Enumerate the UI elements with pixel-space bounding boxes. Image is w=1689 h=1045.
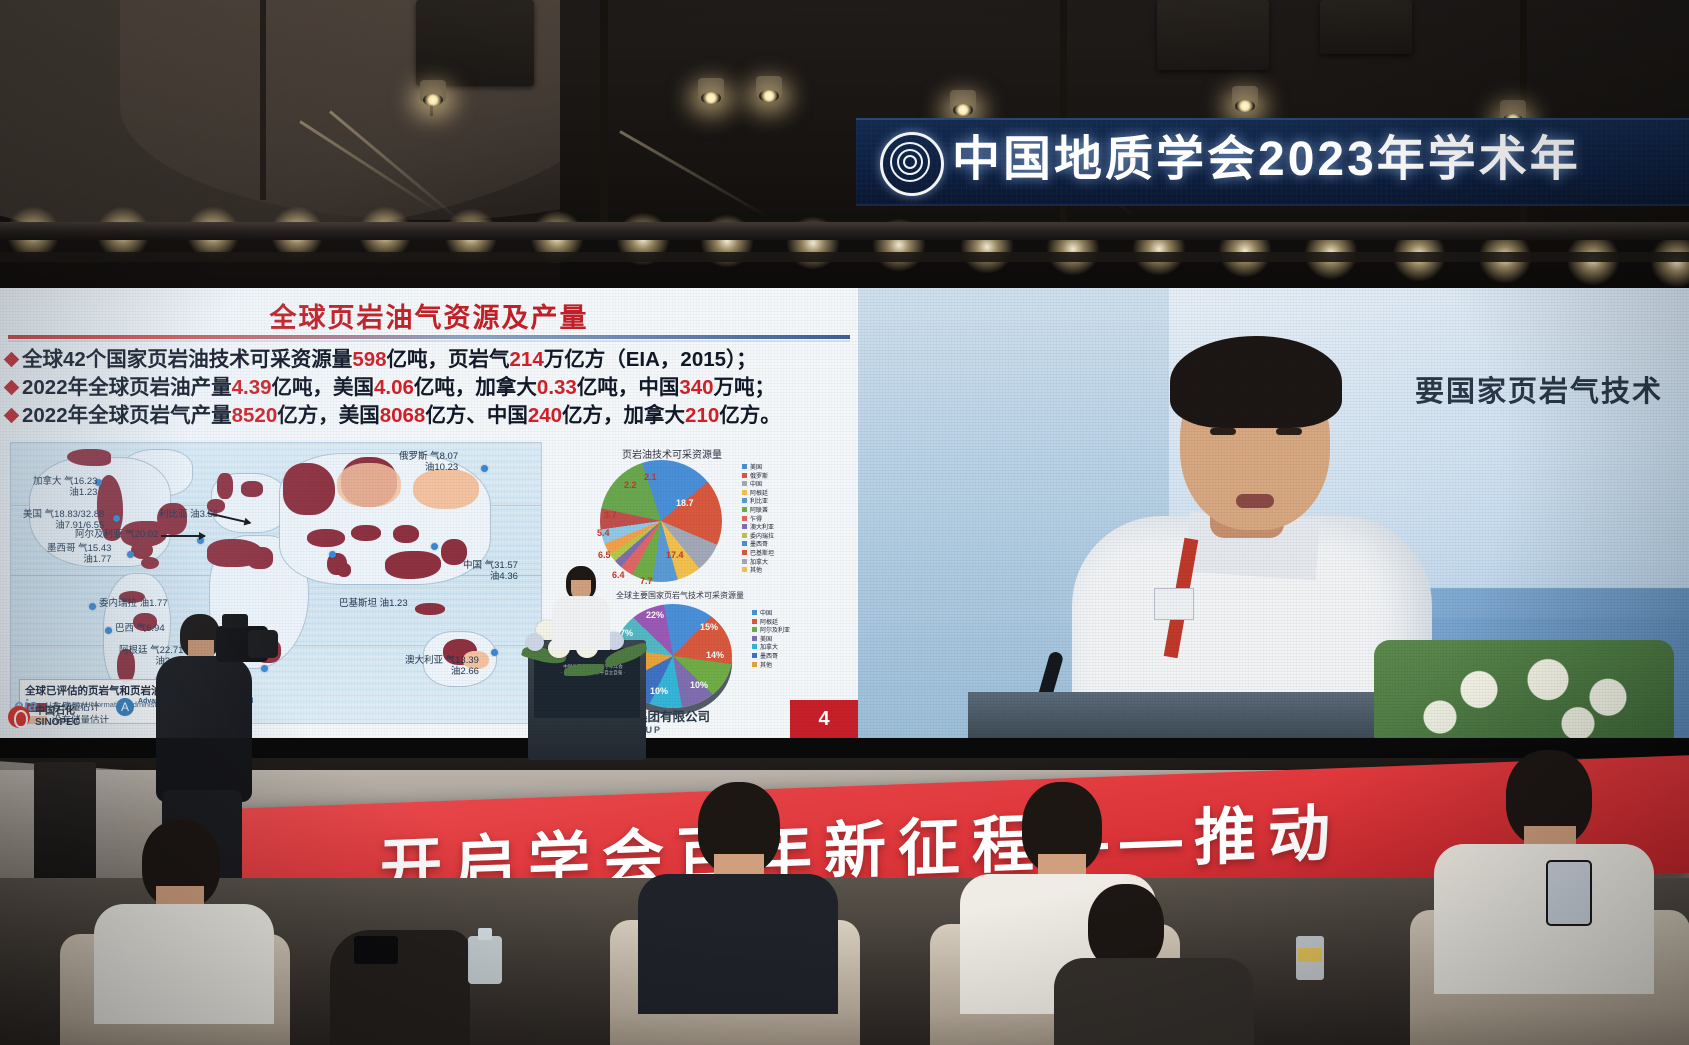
map-label-pakistan: 巴基斯坦 油1.23 [339,598,408,609]
basin-mongolia [393,525,419,543]
audience-member-1 [60,900,290,1045]
pie-legend-item: 加拿大 [752,644,790,653]
pie-legend-swatch [742,516,747,521]
pie-legend-label: 其他 [750,568,762,574]
ceiling-lamp-1 [420,80,446,102]
bullet-3: 2022年全球页岩气产量8520亿方，美国8068亿方、中国240亿方，加拿大2… [6,402,858,430]
pie-legend-swatch [752,636,757,641]
shale-gas-pie-legend: 中国阿根廷阿尔及利亚美国加拿大墨西哥其他 [752,610,790,670]
pie-legend-label: 乍得 [750,517,762,523]
pie-legend-label: 其他 [760,663,772,669]
pie-legend-label: 阿根廷 [750,491,768,497]
pie-legend-label: 阿根廷 [760,620,778,626]
ceiling-lamp-3 [756,76,782,98]
flower-7 [526,634,544,651]
pie-legend-swatch [742,490,747,495]
bullet-2: 2022年全球页岩油产量4.39亿吨，美国4.06亿吨，加拿大0.33亿吨，中国… [6,374,858,402]
floor-speaker-cabinet [34,762,96,890]
pie-legend-swatch [742,533,747,538]
bullet-text: 亿方，加拿大 [562,404,685,427]
map-label-china: 中国 气31.57油4.36 [463,560,518,582]
bullet-marker-icon [4,352,20,368]
video-speaker-eye-right [1276,428,1302,435]
sinopec-logo: 中国石化SINOPEC [8,706,80,728]
bullet-value: 214 [510,348,544,371]
pie-legend-swatch [742,541,747,546]
pie-legend-item: 阿尔及利亚 [752,627,790,636]
audience-arm [330,930,470,1045]
presentation-slide: 全球页岩油气资源及产量 全球42个国家页岩油技术可采资源量598亿吨，页岩气21… [0,288,858,738]
pie-legend-item: 阿根廷 [752,619,790,628]
ceiling-beam-4 [260,0,266,200]
video-background-slide-text: 要国家页岩气技术 [1415,368,1663,410]
ceiling-lamp-5 [1232,86,1258,108]
operator-torso [156,656,252,802]
map-marker-venezuela [89,603,96,610]
video-speaker-hair [1170,336,1342,428]
ceiling-beam-1 [600,0,608,230]
bullet-text: 亿吨，中国 [577,376,680,399]
pie-legend-item: 阿根廷 [742,490,774,499]
venue-banner-text: 中国地质学会2023年学术年 [952,128,1581,192]
bottle-cap [478,928,492,940]
bullet-value: 8520 [232,404,278,427]
bottle-body [468,936,502,984]
audience-shoulders [638,874,838,1014]
audience-shoulders [1434,844,1654,994]
map-label-usa: 美国 气18.83/32.88油7.91/6.55 [23,509,104,531]
map-label-libya: 利比亚 油3.55 [159,509,218,520]
audience-shoulders [94,904,274,1024]
basin-far-east-unestimated [413,469,479,509]
pie-legend-swatch [742,473,747,478]
audience-water-bottle [468,928,502,984]
map-label-algeria: 阿尔及利亚 气20.02 [75,529,158,540]
pie-legend-label: 利比亚 [750,499,768,505]
title-divider [8,335,850,339]
pie-legend-swatch [742,567,747,572]
pie-legend-item: 俄罗斯 [742,473,774,482]
lighting-truss [0,222,1689,240]
map-marker-china [431,543,438,550]
pie-legend-swatch [742,559,747,564]
bullet-value: 210 [685,404,719,427]
pie-legend-label: 墨西哥 [760,654,778,660]
pie-legend-item: 中国 [742,481,774,490]
audience-member-6 [330,930,470,1045]
shale-oil-pie-value-3: 7.7 [640,576,653,586]
shale-oil-pie-title: 页岩油技术可采资源量 [572,446,772,461]
map-marker-mexico [127,551,134,558]
camera-viewfinder [222,614,248,628]
ceiling-speaker-2 [1157,0,1269,70]
bullet-value: 8068 [380,404,426,427]
ceiling-lamp-2 [698,78,724,100]
basin-russia-west [283,463,335,515]
pie-legend-label: 中国 [760,611,772,617]
pie-legend-item: 美国 [752,636,790,645]
pie-legend-swatch [752,644,757,649]
bullet-value: 340 [679,376,713,399]
bullet-value: 240 [528,404,562,427]
shale-oil-pie-legend: 美国俄罗斯中国阿根廷利比亚阿联酋乍得澳大利亚委内瑞拉墨西哥巴基斯坦加拿大其他 [742,464,774,576]
pie-legend-label: 巴基斯坦 [750,551,774,557]
pie-legend-label: 阿联酋 [750,508,768,514]
basin-india [337,563,351,577]
bullet-text: 全球42个国家页岩油技术可采资源量 [22,348,352,371]
map-label-australia: 澳大利亚 气13.39油2.66 [405,655,479,677]
basin-mexico [141,557,159,569]
pie-legend-item: 澳大利亚 [742,524,774,533]
stage-speaker-shirt [552,596,610,650]
ceiling-lamp-4 [950,90,976,112]
basin-north-sea [217,473,233,499]
bullet-text: 亿吨，页岩气 [387,348,510,371]
pie-legend-swatch [742,507,747,512]
pie-legend-label: 墨西哥 [750,542,768,548]
shale-oil-pie-value-8: 2.2 [624,480,637,490]
audience-shoulders [1054,958,1254,1045]
basin-china [385,551,441,579]
live-video-feed: 要国家页岩气技术 [858,288,1689,738]
pie-legend-item: 阿联酋 [742,507,774,516]
bullet-text: 亿吨，美国 [272,376,375,399]
map-marker-brazil [105,627,112,634]
bullet-text: 亿方。 [719,404,781,427]
pie-legend-label: 美国 [760,637,772,643]
pie-legend-swatch [752,619,757,624]
pie-legend-swatch [742,550,747,555]
shale-gas-pie-value-3: 14% [706,650,724,660]
shale-gas-pie-value-2: 15% [700,622,718,632]
basin-central-asia [307,529,345,547]
shale-oil-pie-value-1: 18.7 [676,498,694,508]
basin-canada-arctic [67,449,111,466]
shale-oil-pie-value-6: 5.4 [597,528,610,538]
pie-legend-item: 利比亚 [742,498,774,507]
video-speaker-badge [1154,588,1194,620]
bullet-text: 亿方，美国 [277,404,380,427]
bullet-value: 4.39 [232,376,272,399]
conference-hall-photo: 中国地质学会2023年学术年 全球页岩油气资源及产量 全球42个国家页岩油技术可… [0,0,1689,1045]
slide-title: 全球页岩油气资源及产量 [0,296,858,335]
shale-gas-pie-value-4: 10% [690,680,708,690]
audience-member-4 [1060,906,1290,1045]
map-marker-pakistan [329,551,336,558]
ceiling-speaker-1 [416,0,534,86]
pie-legend-swatch [752,653,757,658]
video-speaker-mouth [1236,494,1274,508]
bullet-text: 亿吨，加拿大 [414,376,537,399]
pie-legend-swatch [752,610,757,615]
shale-oil-pie-value-9: 2.1 [644,472,657,482]
audience-water-glass [1296,930,1324,980]
basin-poland [241,481,263,497]
map-label-canada: 加拿大 气16.23油1.23 [33,476,97,498]
pie-legend-label: 美国 [750,465,762,471]
pie-legend-item: 墨西哥 [742,541,774,550]
bullet-value: 0.33 [537,376,577,399]
pie-legend-swatch [742,524,747,529]
sinopec-mark-icon [8,706,30,728]
bullet-marker-icon [4,380,20,396]
basin-libya [247,547,273,569]
pie-legend-item: 美国 [742,464,774,473]
bullet-text: 2022年全球页岩气产量 [22,404,232,427]
pie-legend-label: 委内瑞拉 [750,534,774,540]
pie-legend-swatch [742,498,747,503]
lighting-truss-lower [0,252,1689,262]
basin-siberia-unestimated [337,463,401,507]
world-shale-map: 加拿大 气16.23油1.23 美国 气18.83/32.88油7.91/6.5… [10,442,542,724]
pie-legend-item: 加拿大 [742,559,774,568]
pie-legend-item: 乍得 [742,516,774,525]
basin-indonesia [415,603,445,615]
geological-society-emblem-icon [880,132,944,196]
pie-legend-item: 其他 [752,662,790,671]
glass-label [1298,948,1322,962]
audience-phone-screen [1546,860,1592,926]
map-label-mexico: 墨西哥 气15.43油1.77 [47,543,111,565]
ceiling-speaker-3 [1320,0,1412,54]
map-marker-russia [481,465,488,472]
bullet-text: 万吨； [714,376,776,399]
camera-lens [248,630,278,658]
map-label-russia: 俄罗斯 气8.07油10.23 [399,451,458,473]
audience-phone [354,936,398,964]
bullet-marker-icon [4,408,20,424]
audience-member-2 [610,880,860,1045]
pie-legend-swatch [752,627,757,632]
pie-legend-label: 加拿大 [760,645,778,651]
map-marker-australia [491,649,498,656]
bullet-text: 万亿方（EIA，2015）； [544,348,757,371]
pie-legend-label: 澳大利亚 [750,525,774,531]
pie-legend-swatch [742,464,747,469]
pie-legend-label: 阿尔及利亚 [760,628,790,634]
shale-oil-pie-value-7: 3.7 [604,510,617,520]
bullet-value: 598 [352,348,386,371]
shale-gas-pie-value-5: 10% [650,686,668,696]
bullet-value: 4.06 [374,376,414,399]
pie-legend-item: 墨西哥 [752,653,790,662]
title-divider-2 [8,340,850,342]
pie-legend-swatch [742,481,747,486]
slide-page-number: 4 [790,700,858,738]
shale-oil-pie-chart [600,460,722,582]
pie-legend-item: 中国 [752,610,790,619]
flower-leaf-3 [564,664,604,676]
map-marker-usa [113,515,120,522]
sinopec-logo-text: 中国石化SINOPEC [35,706,80,728]
basin-kazakhstan [351,525,381,541]
pie-legend-item: 其他 [742,567,774,576]
slide-bullet-list: 全球42个国家页岩油技术可采资源量598亿吨，页岩气214万亿方（EIA，201… [6,346,858,430]
callout-arrow-algeria [161,535,205,537]
bullet-text: 亿方、中国 [425,404,528,427]
ari-logo-icon: A [116,698,134,716]
bullet-1: 全球42个国家页岩油技术可采资源量598亿吨，页岩气214万亿方（EIA，201… [6,346,858,374]
video-speaker-eye-left [1210,428,1236,435]
pie-legend-label: 俄罗斯 [750,474,768,480]
pie-legend-label: 加拿大 [750,560,768,566]
pie-legend-item: 巴基斯坦 [742,550,774,559]
pie-legend-swatch [752,662,757,667]
shale-oil-pie-value-4: 6.4 [612,570,625,580]
pie-legend-item: 委内瑞拉 [742,533,774,542]
venue-banner: 中国地质学会2023年学术年 [856,118,1689,206]
shale-oil-pie-value-5: 6.5 [598,550,611,560]
bullet-text: 2022年全球页岩油产量 [22,376,232,399]
pie-legend-label: 中国 [750,482,762,488]
shale-oil-pie-value-2: 17.4 [666,550,684,560]
video-flower-arrangement [1374,640,1674,738]
